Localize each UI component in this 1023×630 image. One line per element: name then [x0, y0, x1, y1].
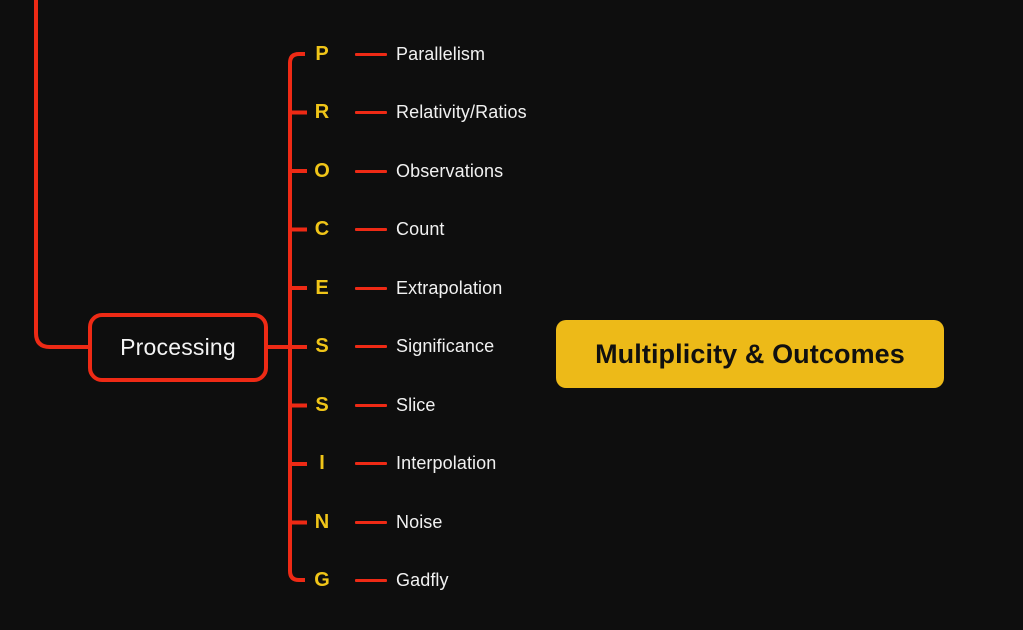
- acronym-row[interactable]: IInterpolation: [307, 449, 496, 479]
- acronym-connector-dash: [355, 111, 387, 114]
- acronym-connector-dash: [355, 53, 387, 56]
- acronym-connector-dash: [355, 521, 387, 524]
- acronym-term: Relativity/Ratios: [396, 102, 527, 123]
- acronym-letter: G: [307, 569, 337, 592]
- edge-child-trunk: [290, 54, 305, 580]
- acronym-row[interactable]: RRelativity/Ratios: [307, 98, 527, 128]
- edge-child-stubs: [290, 113, 307, 523]
- acronym-row[interactable]: EExtrapolation: [307, 273, 502, 303]
- acronym-row[interactable]: NNoise: [307, 507, 443, 537]
- acronym-row[interactable]: SSignificance: [307, 332, 494, 362]
- node-multiplicity-outcomes[interactable]: Multiplicity & Outcomes: [556, 320, 944, 388]
- acronym-letter: P: [307, 43, 337, 66]
- acronym-row[interactable]: PParallelism: [307, 39, 485, 69]
- acronym-connector-dash: [355, 287, 387, 290]
- mindmap-canvas: Processing Multiplicity & Outcomes PPara…: [0, 0, 1023, 630]
- acronym-term: Significance: [396, 336, 494, 357]
- acronym-letter: E: [307, 277, 337, 300]
- acronym-term: Observations: [396, 161, 503, 182]
- acronym-letter: C: [307, 218, 337, 241]
- acronym-letter: S: [307, 394, 337, 417]
- acronym-letter: S: [307, 335, 337, 358]
- acronym-term: Count: [396, 219, 445, 240]
- node-processing-label: Processing: [120, 334, 236, 361]
- acronym-term: Parallelism: [396, 44, 485, 65]
- acronym-row[interactable]: CCount: [307, 215, 445, 245]
- acronym-connector-dash: [355, 462, 387, 465]
- acronym-letter: R: [307, 101, 337, 124]
- acronym-connector-dash: [355, 170, 387, 173]
- node-processing[interactable]: Processing: [88, 313, 268, 382]
- acronym-letter: O: [307, 160, 337, 183]
- acronym-term: Gadfly: [396, 570, 449, 591]
- acronym-term: Noise: [396, 512, 443, 533]
- acronym-letter: N: [307, 511, 337, 534]
- node-multiplicity-outcomes-label: Multiplicity & Outcomes: [595, 339, 905, 370]
- acronym-letter: I: [307, 452, 337, 475]
- acronym-term: Slice: [396, 395, 436, 416]
- acronym-term: Interpolation: [396, 453, 496, 474]
- acronym-connector-dash: [355, 228, 387, 231]
- acronym-row[interactable]: SSlice: [307, 390, 436, 420]
- acronym-term: Extrapolation: [396, 278, 502, 299]
- acronym-row[interactable]: OObservations: [307, 156, 503, 186]
- acronym-connector-dash: [355, 579, 387, 582]
- acronym-connector-dash: [355, 404, 387, 407]
- edge-root-to-processing: [36, 0, 90, 347]
- acronym-row[interactable]: GGadfly: [307, 566, 449, 596]
- acronym-connector-dash: [355, 345, 387, 348]
